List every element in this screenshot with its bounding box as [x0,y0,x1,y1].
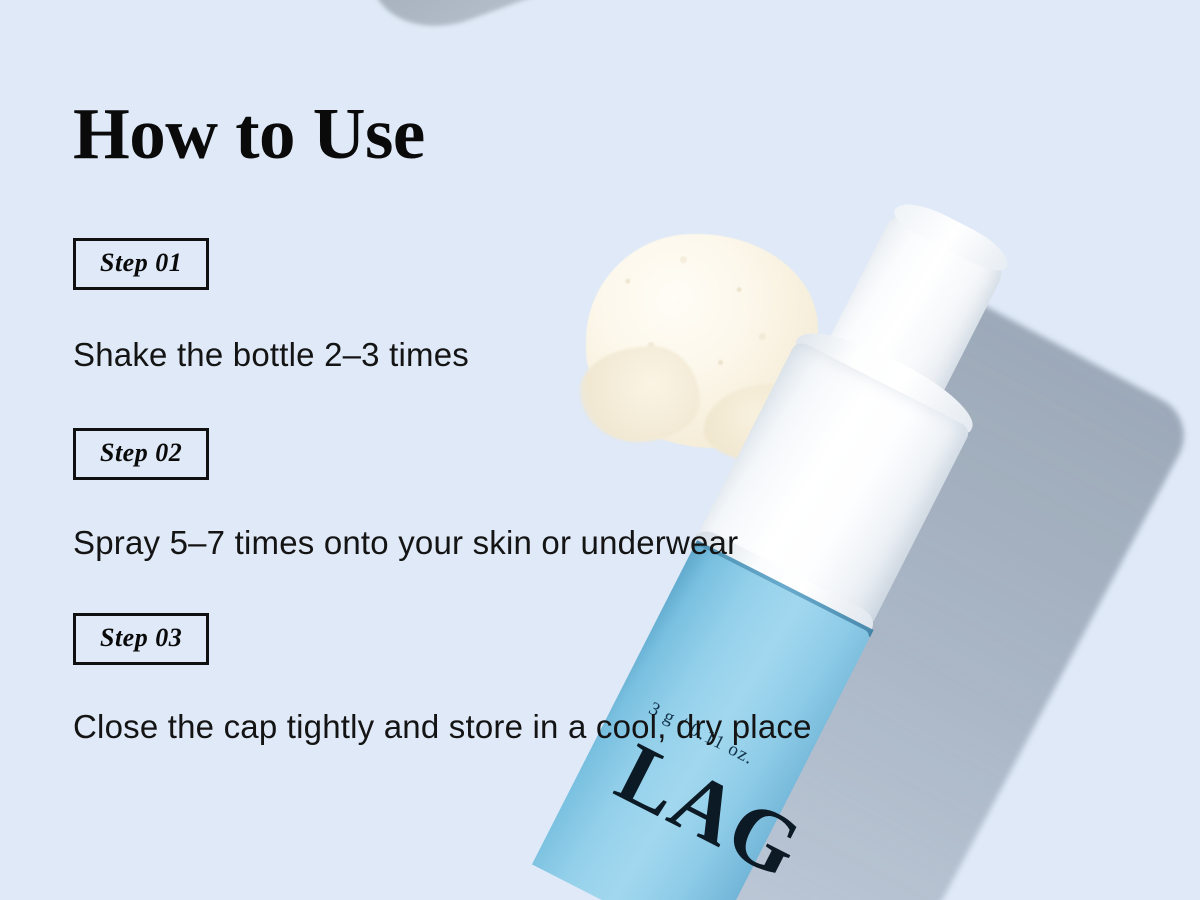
page-title: How to Use [73,97,425,170]
step-text-02: Spray 5–7 times onto your skin or underw… [73,522,738,563]
step-badge-label-03: Step 03 [100,623,182,652]
step-text-01: Shake the bottle 2–3 times [73,334,469,375]
how-to-use-graphic: 3 g / 0.11 oz. LAG How to Use Step 01 Sh… [0,0,1200,900]
step-badge-label-01: Step 01 [100,248,182,277]
instructions-content: How to Use Step 01 Shake the bottle 2–3 … [73,0,953,900]
step-badge-03: Step 03 [73,613,209,665]
step-badge-label-02: Step 02 [100,438,182,467]
step-badge-box-02: Step 02 [73,428,209,480]
step-badge-02: Step 02 [73,428,209,480]
step-text-03: Close the cap tightly and store in a coo… [73,706,812,747]
step-badge-01: Step 01 [73,238,209,290]
step-badge-box-03: Step 03 [73,613,209,665]
step-badge-box-01: Step 01 [73,238,209,290]
